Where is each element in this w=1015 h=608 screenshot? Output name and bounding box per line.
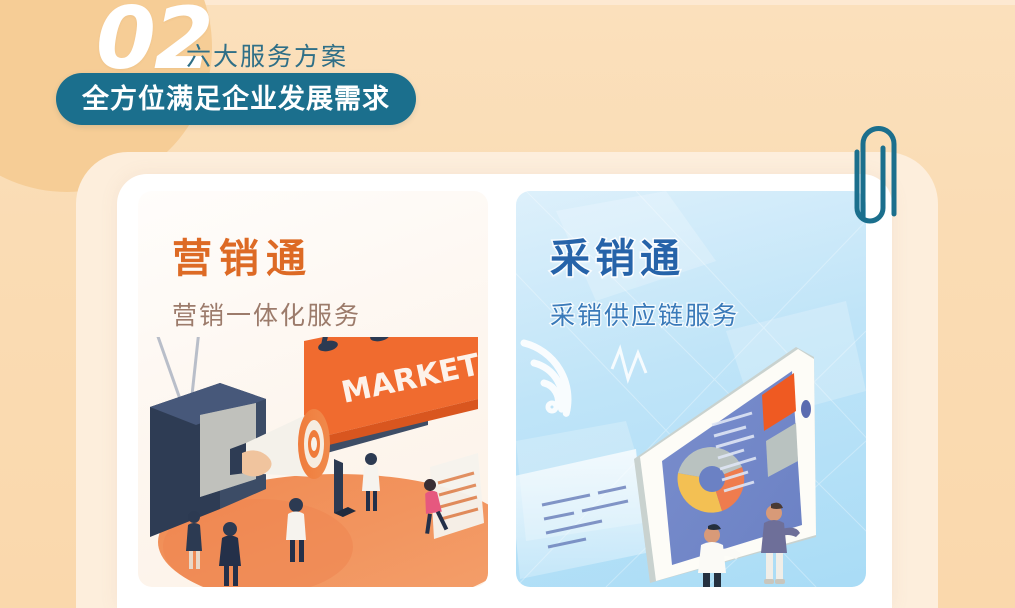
service-card-title: 营销通 xyxy=(172,239,313,279)
line-chart-icon xyxy=(612,349,646,379)
info-panel xyxy=(516,449,646,579)
section-subtitle: 六大服务方案 xyxy=(186,45,348,70)
wifi-icon xyxy=(516,343,580,413)
service-card-subtitle: 营销一体化服务 xyxy=(172,304,361,329)
tablet-icon xyxy=(634,347,816,583)
marketing-illustration: MARKET xyxy=(138,337,488,587)
service-card-procurement[interactable]: 采销通 采销供应链服务 xyxy=(516,191,866,587)
supplychain-illustration xyxy=(516,337,866,587)
service-card-subtitle: 采销供应链服务 xyxy=(550,304,739,329)
headline-pill: 全方位满足企业发展需求 xyxy=(56,73,416,125)
paperclip-icon xyxy=(845,118,903,230)
service-card-title: 采销通 xyxy=(550,239,685,279)
headline-pill-label: 全方位满足企业发展需求 xyxy=(82,86,390,113)
poster-canvas: 02 六大服务方案 全方位满足企业发展需求 营销通 营销一体化服务 xyxy=(0,0,1015,608)
service-card-list: 营销通 营销一体化服务 xyxy=(138,191,870,589)
service-card-marketing[interactable]: 营销通 营销一体化服务 xyxy=(138,191,488,587)
